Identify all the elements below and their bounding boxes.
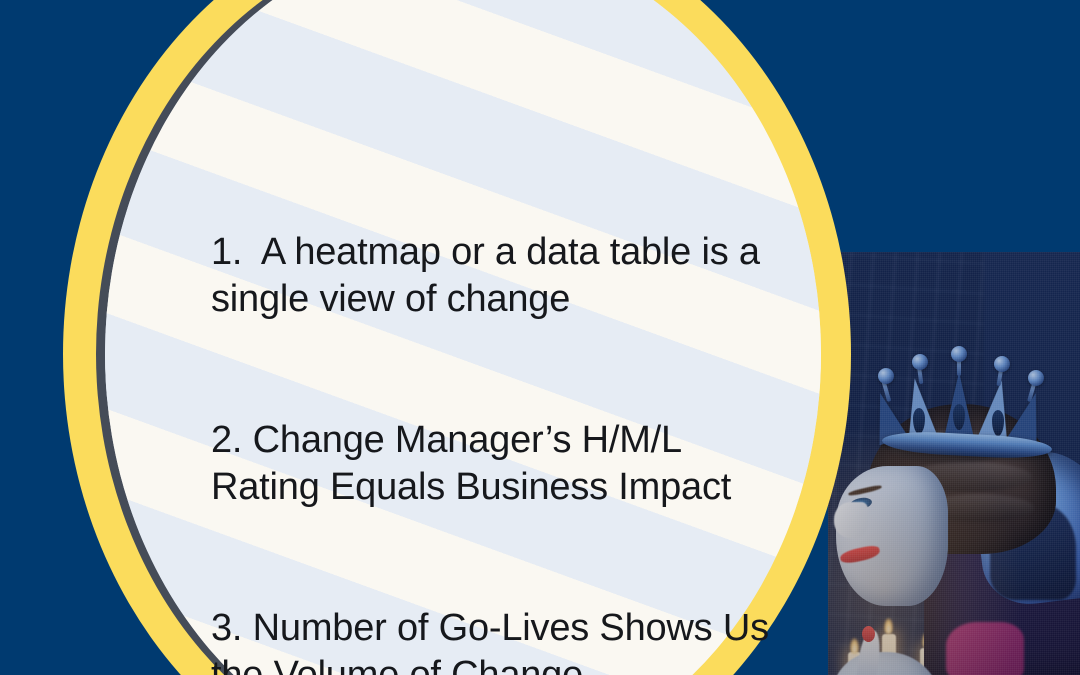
crown-orb xyxy=(951,346,967,362)
poster-canvas: 1. A heatmap or a data table is a single… xyxy=(0,0,1080,675)
myth-list: 1. A heatmap or a data table is a single… xyxy=(211,135,771,675)
candle-flame xyxy=(850,638,859,654)
queen-photo xyxy=(828,252,1080,675)
crown-orb xyxy=(878,368,894,384)
candle-flame xyxy=(884,618,893,634)
list-item: 3. Number of Go-Lives Shows Us the Volum… xyxy=(211,605,771,675)
crown-orb xyxy=(1028,370,1044,386)
queen-cloak-lining xyxy=(946,622,1024,675)
crown-orb xyxy=(912,354,928,370)
queen-nose xyxy=(834,502,868,538)
crown-orb xyxy=(994,356,1010,372)
list-item: 1. A heatmap or a data table is a single… xyxy=(211,229,771,323)
queen-crown xyxy=(868,362,1064,458)
queen-fingernail xyxy=(862,626,875,642)
list-item: 2. Change Manager’s H/M/L Rating Equals … xyxy=(211,417,771,511)
